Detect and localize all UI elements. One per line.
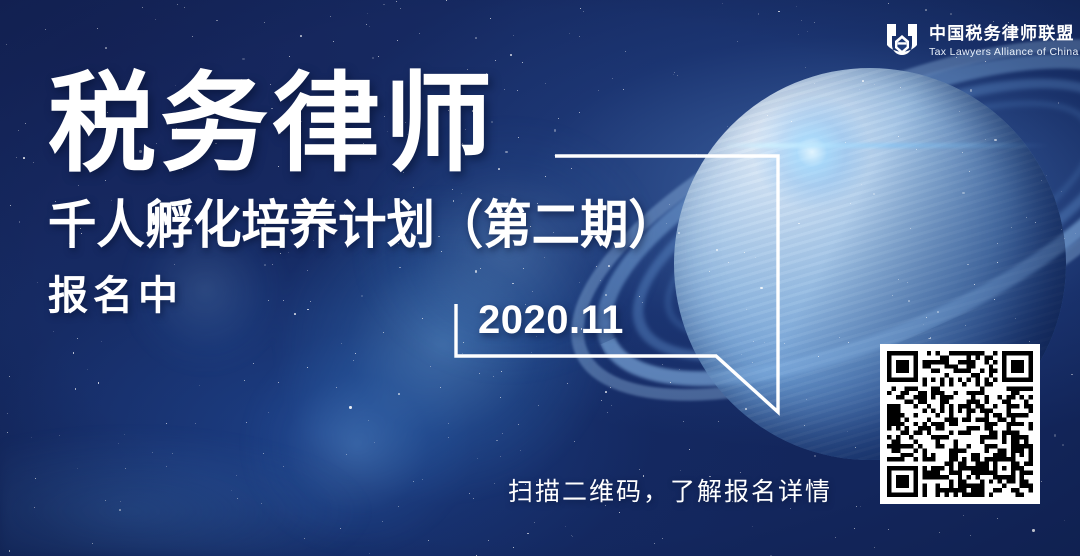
brand-name-cn: 中国税务律师联盟: [929, 25, 1079, 42]
event-date: 2020.11: [478, 298, 624, 343]
brand-logo: 中国税务律师联盟 Tax Lawyers Alliance of China: [884, 22, 1079, 60]
page-title: 税务律师: [48, 70, 724, 178]
brand-name-en: Tax Lawyers Alliance of China: [929, 47, 1079, 58]
lens-flare-icon: [752, 92, 872, 212]
registration-qr-code[interactable]: [880, 344, 1040, 504]
brand-text-block: 中国税务律师联盟 Tax Lawyers Alliance of China: [929, 25, 1079, 58]
qr-caption: 扫描二维码，了解报名详情: [508, 472, 832, 508]
page-subtitle: 千人孵化培养计划（第二期）: [48, 200, 677, 252]
headline-block: 税务律师 千人孵化培养计划（第二期） 报名中: [48, 70, 724, 316]
tax-lawyers-alliance-logo-icon: [884, 22, 920, 60]
poster-canvas: 中国税务律师联盟 Tax Lawyers Alliance of China 税…: [0, 0, 1080, 556]
lens-flare-streak: [720, 143, 1050, 148]
qr-code-image: [887, 351, 1033, 497]
